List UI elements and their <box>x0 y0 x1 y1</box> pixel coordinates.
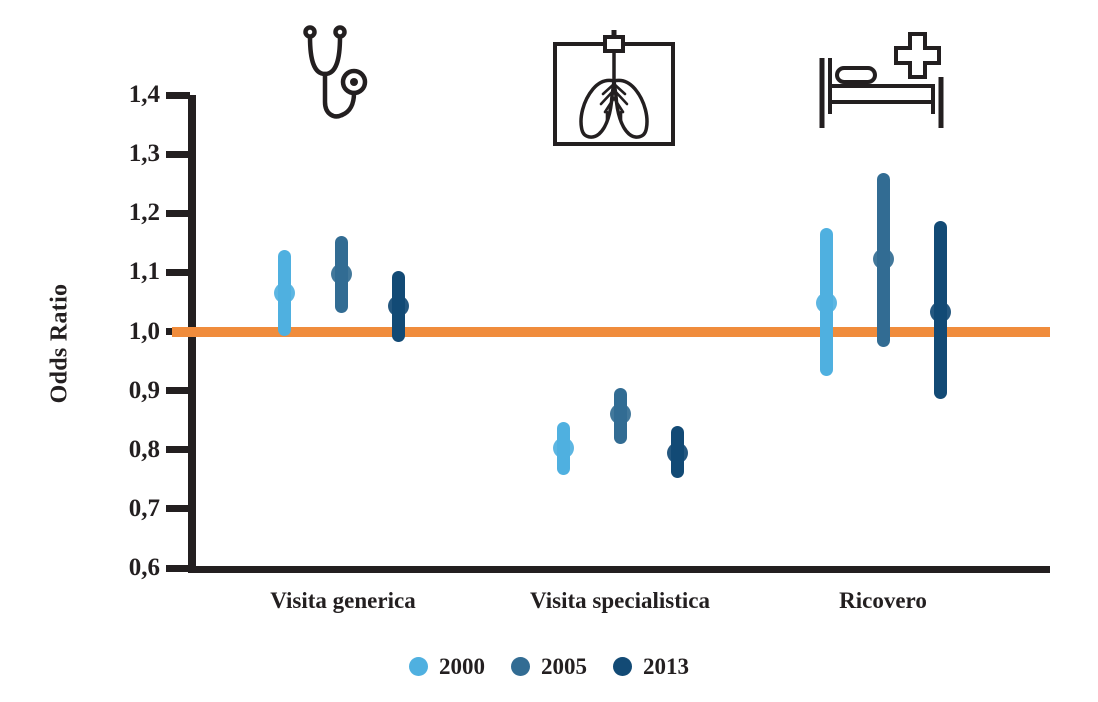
category-label-1: Visita generica <box>193 588 493 614</box>
legend-item-2000[interactable]: 2000 <box>409 655 485 678</box>
legend: 200020052013 <box>0 655 1098 678</box>
y-axis-title: Odds Ratio <box>47 244 74 444</box>
y-tick-0-6 <box>166 565 190 572</box>
estimate-marker <box>274 283 295 304</box>
legend-swatch-icon <box>613 657 632 676</box>
chest-xray-lungs-icon <box>549 26 679 153</box>
y-tick-1-1 <box>166 269 190 276</box>
estimate-marker <box>930 301 951 322</box>
x-axis-line <box>188 566 1050 573</box>
legend-label: 2005 <box>541 655 587 678</box>
category-label-2: Visita specialistica <box>470 588 770 614</box>
estimate-marker <box>816 293 837 314</box>
estimate-marker <box>667 442 688 463</box>
y-tick-label-text: 0,7 <box>90 496 160 521</box>
hospital-bed-cross-icon <box>813 22 953 139</box>
y-tick-1-3 <box>166 151 190 158</box>
y-tick-label-text: 1,4 <box>90 82 160 107</box>
y-tick-label-text: 0,8 <box>90 437 160 462</box>
reference-line-or-1 <box>172 327 1050 337</box>
legend-label: 2013 <box>643 655 689 678</box>
y-tick-0-8 <box>166 446 190 453</box>
legend-swatch-icon <box>511 657 530 676</box>
stethoscope-icon <box>296 20 376 135</box>
y-tick-label-text: 1,3 <box>90 141 160 166</box>
y-tick-0-7 <box>166 505 190 512</box>
estimate-marker <box>553 437 574 458</box>
legend-swatch-icon <box>409 657 428 676</box>
legend-item-2013[interactable]: 2013 <box>613 655 689 678</box>
y-tick-1-2 <box>166 210 190 217</box>
y-tick-label-text: 1,0 <box>90 319 160 344</box>
category-label-3: Ricovero <box>733 588 1033 614</box>
y-tick-label-text: 0,9 <box>90 378 160 403</box>
legend-label: 2000 <box>439 655 485 678</box>
y-tick-1-4 <box>166 92 190 99</box>
y-tick-0-9 <box>166 387 190 394</box>
legend-item-2005[interactable]: 2005 <box>511 655 587 678</box>
estimate-marker <box>610 404 631 425</box>
y-tick-label-text: 0,6 <box>90 555 160 580</box>
y-tick-label-text: 1,1 <box>90 259 160 284</box>
estimate-marker <box>873 249 894 270</box>
estimate-marker <box>388 296 409 317</box>
estimate-marker <box>331 263 352 284</box>
odds-ratio-chart: Odds Ratio 1,41,31,21,11,00,90,80,70,6 V… <box>0 0 1098 702</box>
y-tick-label-text: 1,2 <box>90 200 160 225</box>
